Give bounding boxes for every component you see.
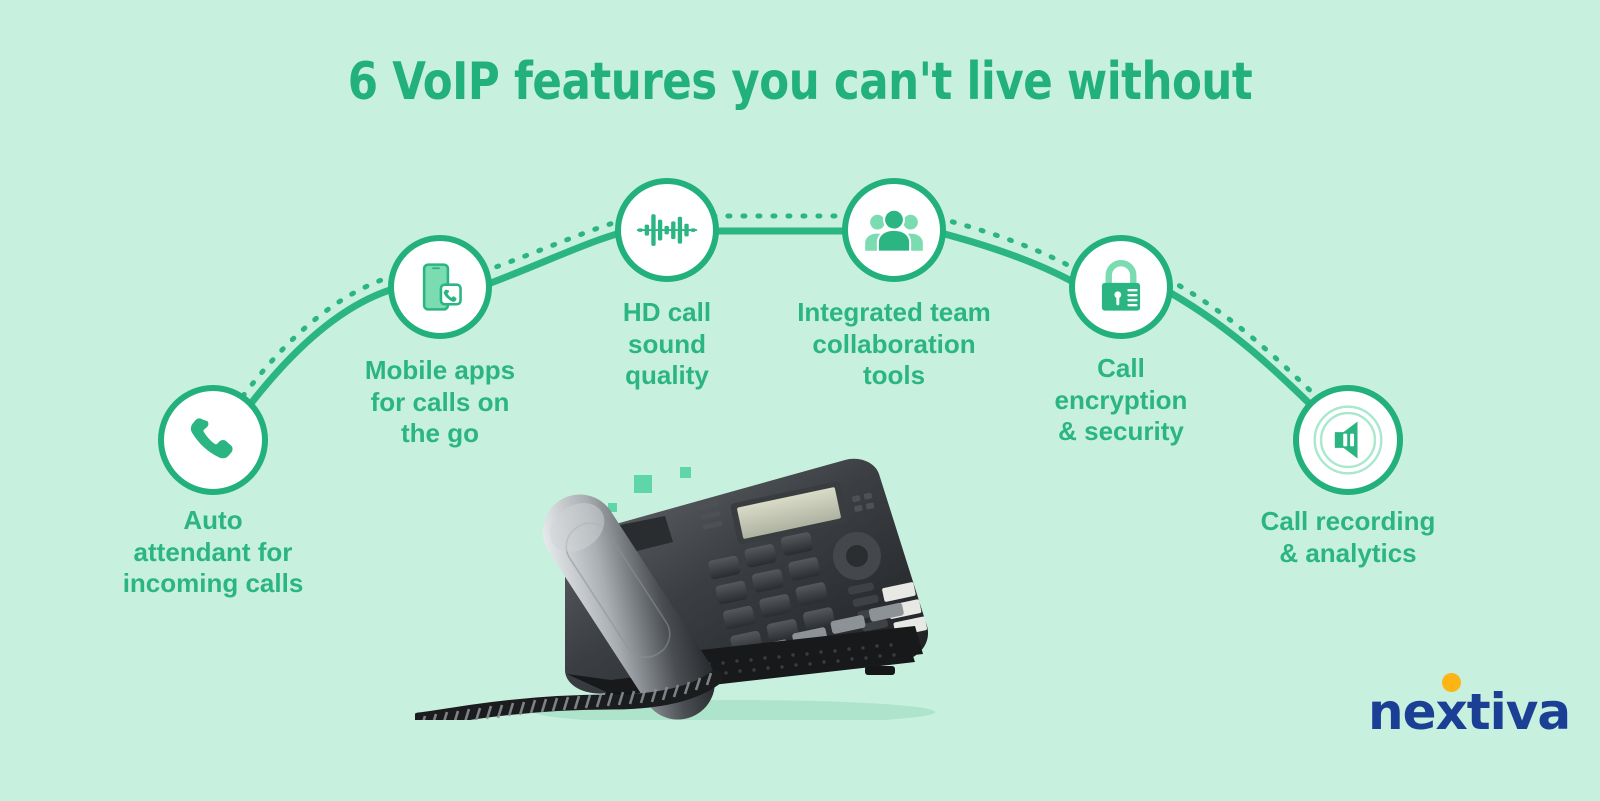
speaker-recording-icon [1311, 403, 1385, 477]
phone-handset-icon [185, 412, 241, 468]
logo-wordmark: nextiva [1368, 683, 1570, 741]
mobile-phone-call-icon [412, 259, 468, 315]
node-label-auto-attendant: Auto attendant for incoming calls [63, 505, 363, 600]
node-circle-hd-sound[interactable] [615, 178, 719, 282]
padlock-icon [1096, 259, 1146, 315]
node-circle-call-encryption[interactable] [1069, 235, 1173, 339]
node-circle-mobile-apps[interactable] [388, 235, 492, 339]
node-label-call-encryption: Call encryption & security [971, 353, 1271, 448]
infographic-canvas: 6 VoIP features you can't live without A… [0, 0, 1600, 801]
audio-waveform-icon [636, 202, 698, 258]
node-label-call-recording: Call recording & analytics [1198, 506, 1498, 569]
node-circle-auto-attendant[interactable] [158, 385, 268, 495]
node-circle-call-recording[interactable] [1293, 385, 1403, 495]
node-circle-team-collaboration[interactable] [842, 178, 946, 282]
people-group-icon [863, 204, 925, 256]
page-title: 6 VoIP features you can't live without [56, 52, 1544, 112]
voip-desk-phone-image [415, 430, 975, 720]
nextiva-logo: nextiva [1368, 673, 1538, 739]
